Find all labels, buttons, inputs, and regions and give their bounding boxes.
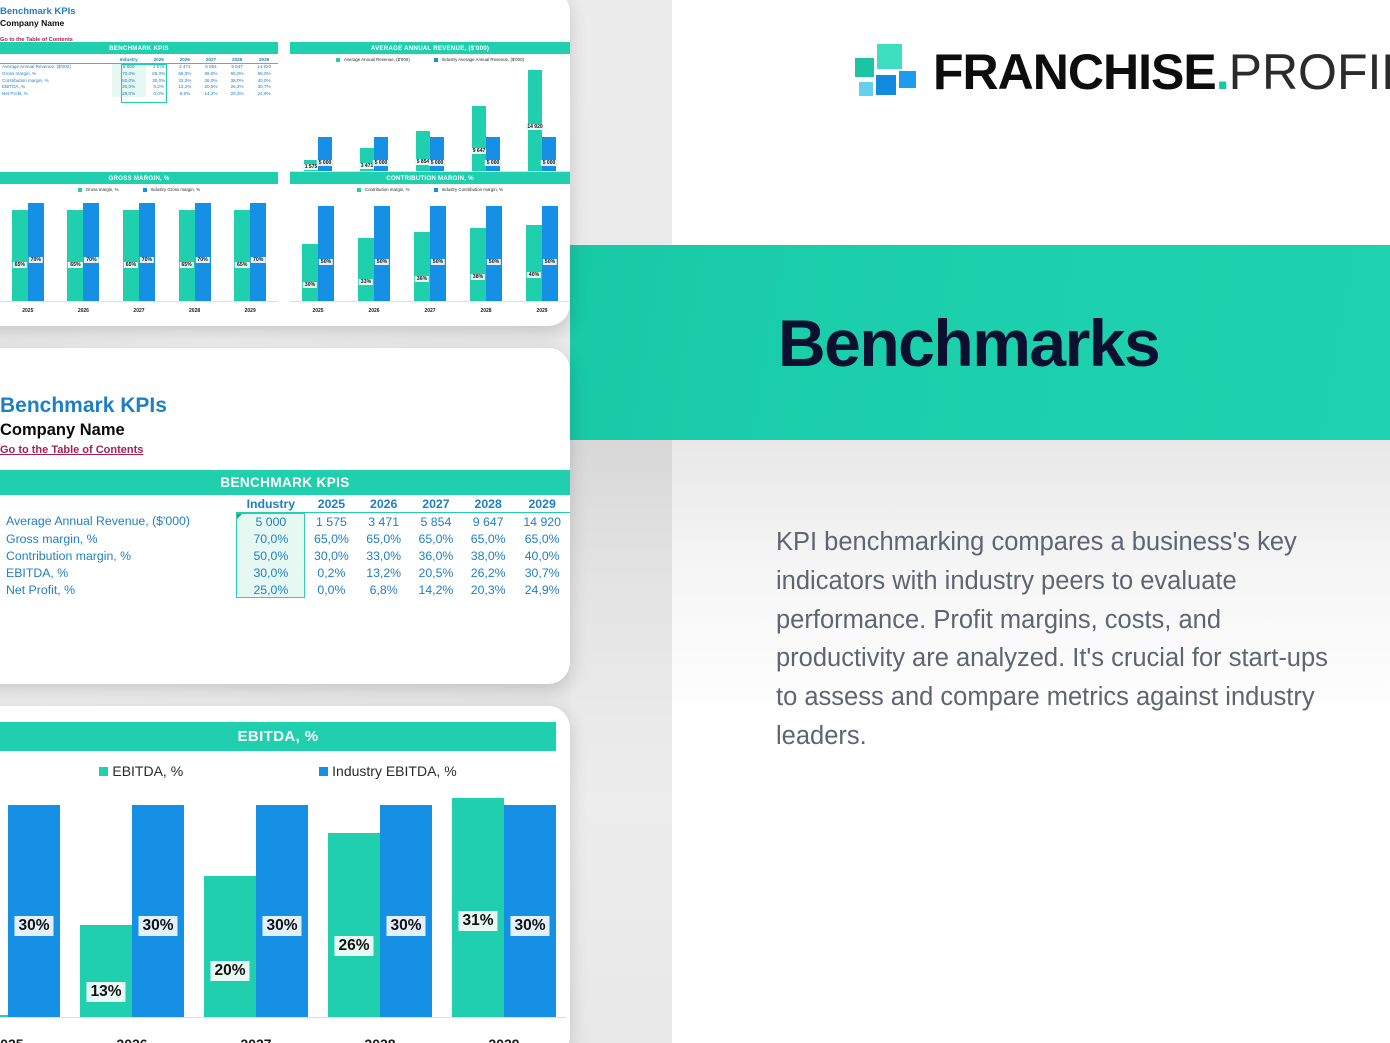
x-axis-labels: 20252026202720282029 <box>0 1036 566 1043</box>
mini-gross-legend: Gross margin, % Industry Gross margin, % <box>0 187 278 192</box>
cell-2026: 65,0% <box>358 530 410 547</box>
legend-swatch-icon <box>78 188 82 192</box>
legend-label: Industry Average Annual Revenue, ($'000) <box>442 57 524 62</box>
plot-area: 30%50%33%50%36%50%38%50%40%50% <box>290 196 570 302</box>
cell-2029: 24,9% <box>514 581 570 598</box>
x-tick-2026: 2026 <box>70 1036 194 1043</box>
bar-2026-industry: 50% <box>374 206 390 301</box>
cell-2027: 36,0% <box>410 547 462 564</box>
legend-label: Contribution margin, % <box>365 187 410 192</box>
sheet-subtitle: Company Name <box>0 421 570 440</box>
column-header-2027: 2027 <box>410 495 462 513</box>
x-tick-2028: 2028 <box>189 308 200 314</box>
bar-2029-company: 65% <box>234 210 250 301</box>
cell-2028: 65,0% <box>224 70 250 77</box>
bar-2029-company: 14 920 <box>528 70 542 171</box>
bar-group-2025: 1 5755 000 <box>304 66 332 171</box>
chart-gross-margin: 65%70%65%70%65%70%65%70%65%70%2025202620… <box>0 196 278 314</box>
mini-revenue-legend: Average Annual Revenue, ($'000) Industry… <box>290 57 570 62</box>
legend-label: Industry EBITDA, % <box>332 763 456 779</box>
cell-2027: 5 854 <box>198 63 224 70</box>
bar-2025-industry: 50% <box>318 206 334 301</box>
legend-item-gross-industry: Industry Gross margin, % <box>143 187 201 192</box>
bar-2026-industry: 70% <box>83 203 99 301</box>
mini-panel-contribution: CONTRIBUTION MARGIN, % Contribution marg… <box>290 172 570 314</box>
bar-2029-industry: 5 000 <box>542 137 556 171</box>
bar-2025-industry: 5 000 <box>318 137 332 171</box>
bar-2029-industry: 30% <box>504 805 556 1017</box>
bar-2029-company: 40% <box>526 225 542 301</box>
cell-2028: 26,2% <box>224 83 250 90</box>
page-title: Benchmarks <box>778 310 1159 376</box>
bar-group-2028: 65%70% <box>179 196 211 301</box>
logo-word-franchise: FRANCHISE <box>933 44 1216 100</box>
table-row: Gross margin, %70,0%65,0%65,0%65,0%65,0%… <box>0 530 570 547</box>
cell-2025: 65,0% <box>305 530 357 547</box>
table-row: Net Profit, %25,0%0,0%6,8%14,2%20,3%24,9… <box>0 581 570 598</box>
mini-table-header: BENCHMARK KPIS <box>0 42 278 54</box>
mini-contribution-legend: Contribution margin, % Industry Contribu… <box>290 187 570 192</box>
cell-2029: 14 920 <box>250 63 278 70</box>
cell-2026: 13,2% <box>172 83 198 90</box>
table-of-contents-link[interactable]: Go to the Table of Contents <box>0 444 143 456</box>
x-tick-2028: 2028 <box>318 1036 442 1043</box>
bar-group-2028: 26%30% <box>328 784 432 1017</box>
cell-2025: 0,0% <box>305 581 357 598</box>
bar-2026-company: 33% <box>358 238 374 301</box>
ebitda-panel-title: EBITDA, % <box>0 722 556 751</box>
cell-2028: 9 647 <box>224 63 250 70</box>
column-header-2028: 2028 <box>224 56 250 63</box>
bar-value-label: 5 000 <box>373 160 390 166</box>
bar-value-label: 50% <box>487 259 501 265</box>
bar-2027-company: 65% <box>123 210 139 301</box>
bar-group-2029: 14 9205 000 <box>528 66 556 171</box>
bar-group-2029: 40%50% <box>526 196 558 301</box>
cell-2027: 14,2% <box>410 581 462 598</box>
cell-2028: 38,0% <box>462 547 514 564</box>
row-label: Average Annual Revenue, ($'000) <box>0 513 236 531</box>
bar-value-label: 9 647 <box>471 148 488 154</box>
bar-value-label: 30% <box>303 282 317 288</box>
bar-value-label: 70% <box>84 257 98 263</box>
x-tick-2026: 2026 <box>368 308 379 314</box>
sheet-subtitle: Company Name <box>0 18 570 28</box>
cell-2029: 14 920 <box>514 513 570 531</box>
logo-square-1 <box>855 58 874 77</box>
mini-gross-title: GROSS MARGIN, % <box>0 172 278 184</box>
screenshot-card-kpi-table: Benchmark KPIs Company Name Go to the Ta… <box>0 348 570 684</box>
bar-value-label: 70% <box>195 257 209 263</box>
cell-2027: 36,0% <box>198 77 224 84</box>
bar-value-label: 65% <box>235 262 249 268</box>
cell-industry[interactable]: 25,0% <box>236 581 305 598</box>
legend-label: EBITDA, % <box>112 763 183 779</box>
cell-2025: 0,2% <box>305 564 357 581</box>
logo-square-2 <box>877 44 902 69</box>
bar-value-label: 38% <box>471 274 485 280</box>
bar-value-label: 30% <box>386 916 425 936</box>
legend-item-revenue-industry: Industry Average Annual Revenue, ($'000) <box>434 57 524 62</box>
bar-value-label: 65% <box>68 262 82 268</box>
cell-2029: 65,0% <box>250 70 278 77</box>
bar-value-label: 50% <box>543 259 557 265</box>
cell-industry[interactable]: 5 000 <box>236 513 305 531</box>
cell-2029: 24,9% <box>250 90 278 97</box>
bar-value-label: 31% <box>458 911 497 931</box>
bar-value-label: 50% <box>319 259 333 265</box>
bar-2027-industry: 30% <box>256 805 308 1017</box>
bar-2025-industry: 30% <box>8 805 60 1017</box>
legend-swatch-icon <box>99 767 108 776</box>
kpi-table-container: BENCHMARK KPIS Industry20252026202720282… <box>0 470 570 598</box>
cell-industry[interactable]: 70,0% <box>236 530 305 547</box>
legend-item-ebitda-industry: Industry EBITDA, % <box>319 763 456 779</box>
row-label: Contribution margin, % <box>0 547 236 564</box>
x-tick-2027: 2027 <box>133 308 144 314</box>
bar-group-2025: 65%70% <box>12 196 44 301</box>
x-tick-2027: 2027 <box>194 1036 318 1043</box>
bar-2025-industry: 70% <box>28 203 44 301</box>
cell-2028: 20,3% <box>462 581 514 598</box>
plot-area: 0%30%13%30%20%30%26%30%31%30% <box>0 784 566 1018</box>
cell-2026: 33,0% <box>358 547 410 564</box>
mini-contribution-title: CONTRIBUTION MARGIN, % <box>290 172 570 184</box>
row-label: EBITDA, % <box>0 83 112 90</box>
bar-value-label: 50% <box>431 259 445 265</box>
background-shade-left <box>570 440 672 1043</box>
logo-square-3 <box>859 82 873 96</box>
column-header-2025: 2025 <box>305 495 357 513</box>
x-tick-2029: 2029 <box>245 308 256 314</box>
legend-item-contribution-industry: Industry Contribution margin, % <box>434 187 504 192</box>
cell-2029: 65,0% <box>514 530 570 547</box>
chart-average-annual-revenue: 1 5755 0003 4715 0005 8545 0009 6475 000… <box>290 66 570 184</box>
bar-value-label: 5 000 <box>317 160 334 166</box>
bar-group-2025: 0%30% <box>0 784 60 1017</box>
cell-2026: 33,0% <box>172 77 198 84</box>
bar-value-label: 26% <box>334 936 373 956</box>
bar-2028-industry: 5 000 <box>486 137 500 171</box>
legend-label: Industry Gross margin, % <box>151 187 201 192</box>
cell-2027: 14,2% <box>198 90 224 97</box>
cell-2028: 26,2% <box>462 564 514 581</box>
bar-2026-company: 65% <box>67 210 83 301</box>
legend-item-gross-company: Gross margin, % <box>78 187 119 192</box>
bar-2026-industry: 30% <box>132 805 184 1017</box>
bar-value-label: 13% <box>86 982 125 1002</box>
cell-2027: 20,5% <box>198 83 224 90</box>
bar-value-label: 30% <box>510 916 549 936</box>
ebitda-legend: EBITDA, % Industry EBITDA, % <box>0 763 570 779</box>
row-label: Average Annual Revenue, ($'000) <box>0 63 112 70</box>
bar-value-label: 70% <box>29 257 43 263</box>
bar-2029-industry: 50% <box>542 206 558 301</box>
x-tick-2026: 2026 <box>78 308 89 314</box>
bar-group-2025: 30%50% <box>302 196 334 301</box>
bar-value-label: 33% <box>359 279 373 285</box>
column-header-2025: 2025 <box>146 56 172 63</box>
bar-2027-industry: 50% <box>430 206 446 301</box>
legend-swatch-icon <box>143 188 147 192</box>
plot-area: 1 5755 0003 4715 0005 8545 0009 6475 000… <box>290 66 570 172</box>
bar-2029-industry: 70% <box>250 203 266 301</box>
cell-industry[interactable]: 30,0% <box>236 564 305 581</box>
cell-2029: 30,7% <box>514 564 570 581</box>
mini-industry-selection-box <box>121 64 167 103</box>
cell-2027: 65,0% <box>410 530 462 547</box>
cell-2026: 13,2% <box>358 564 410 581</box>
bar-group-2027: 5 8545 000 <box>416 66 444 171</box>
bar-value-label: 5 000 <box>429 160 446 166</box>
mini-panel-kpi-table: BENCHMARK KPIS Industry20252026202720282… <box>0 42 278 97</box>
row-label: EBITDA, % <box>0 564 236 581</box>
bar-2026-company: 13% <box>80 925 132 1017</box>
column-header-2029: 2029 <box>514 495 570 513</box>
bar-2025-company: 65% <box>12 210 28 301</box>
logo-square-4 <box>876 75 896 95</box>
legend-swatch-icon <box>434 58 438 62</box>
cell-2028: 65,0% <box>462 530 514 547</box>
bar-2027-company: 36% <box>414 232 430 301</box>
cell-2026: 6,8% <box>358 581 410 598</box>
legend-label: Average Annual Revenue, ($'000) <box>344 57 410 62</box>
bar-value-label: 30% <box>262 916 301 936</box>
bar-group-2026: 65%70% <box>67 196 99 301</box>
bar-group-2026: 13%30% <box>80 784 184 1017</box>
legend-swatch-icon <box>319 767 328 776</box>
bar-value-label: 50% <box>375 259 389 265</box>
bar-group-2027: 36%50% <box>414 196 446 301</box>
column-header-2029: 2029 <box>250 56 278 63</box>
column-header-2026: 2026 <box>172 56 198 63</box>
x-tick-2029: 2029 <box>442 1036 566 1043</box>
x-tick-2025: 2025 <box>312 308 323 314</box>
bar-2028-company: 38% <box>470 228 486 301</box>
bar-value-label: 5 000 <box>541 160 558 166</box>
sheet-title: Benchmark KPIs <box>0 394 570 418</box>
legend-label: Gross margin, % <box>86 187 119 192</box>
bar-2029-company: 31% <box>452 798 504 1017</box>
bar-2025-company: 0% <box>0 1015 8 1017</box>
legend-swatch-icon <box>336 58 340 62</box>
column-header-industry: Industry <box>112 56 146 63</box>
row-label: Contribution margin, % <box>0 77 112 84</box>
row-label: Net Profit, % <box>0 90 112 97</box>
cell-2026: 65,0% <box>172 70 198 77</box>
bar-2028-industry: 70% <box>195 203 211 301</box>
logo-dot: . <box>1216 44 1229 100</box>
bar-2027-industry: 5 000 <box>430 137 444 171</box>
mini-panel-revenue: AVERAGE ANNUAL REVENUE, ($'000) Average … <box>290 42 570 184</box>
cell-2026: 3 471 <box>172 63 198 70</box>
description-paragraph: KPI benchmarking compares a business's k… <box>776 523 1356 756</box>
sheet-title: Benchmark KPIs <box>0 6 570 17</box>
x-tick-2025: 2025 <box>22 308 33 314</box>
screenshot-card-ebitda: EBITDA, % EBITDA, % Industry EBITDA, % 0… <box>0 706 570 1043</box>
x-axis-labels: 20252026202720282029 <box>0 308 278 314</box>
bar-group-2029: 65%70% <box>234 196 266 301</box>
bar-2028-industry: 30% <box>380 805 432 1017</box>
column-header-blank <box>0 495 236 513</box>
cell-2025: 30,0% <box>305 547 357 564</box>
table-row: Contribution margin, %50,0%30,0%33,0%36,… <box>0 547 570 564</box>
bar-group-2028: 38%50% <box>470 196 502 301</box>
screenshot-card-dashboard: Benchmark KPIs Company Name Go to the Ta… <box>0 0 570 326</box>
bar-group-2029: 31%30% <box>452 784 556 1017</box>
logo-squares-icon <box>855 44 917 100</box>
bar-value-label: 14 920 <box>525 124 544 130</box>
legend-swatch-icon <box>434 188 438 192</box>
cell-2027: 20,5% <box>410 564 462 581</box>
cell-2027: 5 854 <box>410 513 462 531</box>
franchise-profiles-logo: FRANCHISE.PROFILES <box>855 44 1390 100</box>
cell-2028: 38,0% <box>224 77 250 84</box>
bar-group-2026: 3 4715 000 <box>360 66 388 171</box>
cell-industry[interactable]: 50,0% <box>236 547 305 564</box>
bar-group-2028: 9 6475 000 <box>472 66 500 171</box>
logo-word-profiles: PROFILES <box>1229 44 1390 100</box>
bar-2027-company: 20% <box>204 876 256 1017</box>
bar-2026-company: 3 471 <box>360 148 374 172</box>
x-tick-2029: 2029 <box>536 308 547 314</box>
bar-value-label: 70% <box>251 257 265 263</box>
cell-2026: 3 471 <box>358 513 410 531</box>
bar-2027-industry: 70% <box>139 203 155 301</box>
bar-value-label: 70% <box>140 257 154 263</box>
cell-2029: 30,7% <box>250 83 278 90</box>
bar-2028-industry: 50% <box>486 206 502 301</box>
row-label: Gross margin, % <box>0 70 112 77</box>
logo-wordmark: FRANCHISE.PROFILES <box>933 47 1390 97</box>
chart-contribution-margin: 30%50%33%50%36%50%38%50%40%50%2025202620… <box>290 196 570 314</box>
legend-item-contribution-company: Contribution margin, % <box>357 187 410 192</box>
cell-2026: 6,8% <box>172 90 198 97</box>
cell-2025: 1 575 <box>305 513 357 531</box>
bar-2028-company: 26% <box>328 833 380 1017</box>
legend-item-ebitda-company: EBITDA, % <box>99 763 183 779</box>
bar-value-label: 20% <box>210 961 249 981</box>
cell-2028: 9 647 <box>462 513 514 531</box>
column-header-2028: 2028 <box>462 495 514 513</box>
cell-2029: 40,0% <box>250 77 278 84</box>
legend-item-revenue-company: Average Annual Revenue, ($'000) <box>336 57 410 62</box>
bar-value-label: 40% <box>527 272 541 278</box>
column-header-industry: Industry <box>236 495 305 513</box>
chart-ebitda: 0%30%13%30%20%30%26%30%31%30%20252026202… <box>0 784 566 1043</box>
bar-value-label: 65% <box>13 262 27 268</box>
column-header-2026: 2026 <box>358 495 410 513</box>
bar-value-label: 36% <box>415 276 429 282</box>
column-header-2027: 2027 <box>198 56 224 63</box>
bar-value-label: 65% <box>179 262 193 268</box>
bar-group-2027: 65%70% <box>123 196 155 301</box>
legend-label: Industry Contribution margin, % <box>442 187 504 192</box>
x-axis-labels: 20252026202720282029 <box>290 308 570 314</box>
bar-value-label: 30% <box>138 916 177 936</box>
bar-2025-company: 30% <box>302 244 318 301</box>
row-label: Gross margin, % <box>0 530 236 547</box>
sheet-header-mini: Benchmark KPIs Company Name Go to the Ta… <box>0 0 570 46</box>
bar-value-label: 5 000 <box>485 160 502 166</box>
x-tick-2025: 2025 <box>0 1036 70 1043</box>
logo-square-5 <box>899 71 916 88</box>
cell-2027: 65,0% <box>198 70 224 77</box>
bar-value-label: 65% <box>124 262 138 268</box>
bar-2026-industry: 5 000 <box>374 137 388 171</box>
column-header-blank <box>0 56 112 63</box>
legend-swatch-icon <box>357 188 361 192</box>
bar-group-2026: 33%50% <box>358 196 390 301</box>
bar-group-2027: 20%30% <box>204 784 308 1017</box>
mini-revenue-title: AVERAGE ANNUAL REVENUE, ($'000) <box>290 42 570 54</box>
x-tick-2028: 2028 <box>480 308 491 314</box>
kpi-table-header: BENCHMARK KPIS <box>0 470 570 495</box>
section-banner: Benchmarks <box>570 245 1390 440</box>
sheet-header-large: Benchmark KPIs Company Name Go to the Ta… <box>0 348 570 458</box>
table-row: EBITDA, %30,0%0,2%13,2%20,5%26,2%30,7% <box>0 564 570 581</box>
mini-panel-gross-margin: GROSS MARGIN, % Gross margin, % Industry… <box>0 172 278 314</box>
cell-2028: 20,3% <box>224 90 250 97</box>
plot-area: 65%70%65%70%65%70%65%70%65%70% <box>0 196 278 302</box>
bar-2028-company: 65% <box>179 210 195 301</box>
x-tick-2027: 2027 <box>424 308 435 314</box>
table-row: Average Annual Revenue, ($'000)5 0001 57… <box>0 513 570 531</box>
cell-2029: 40,0% <box>514 547 570 564</box>
row-label: Net Profit, % <box>0 581 236 598</box>
bar-value-label: 30% <box>14 916 53 936</box>
kpi-table: Industry20252026202720282029Average Annu… <box>0 495 570 598</box>
